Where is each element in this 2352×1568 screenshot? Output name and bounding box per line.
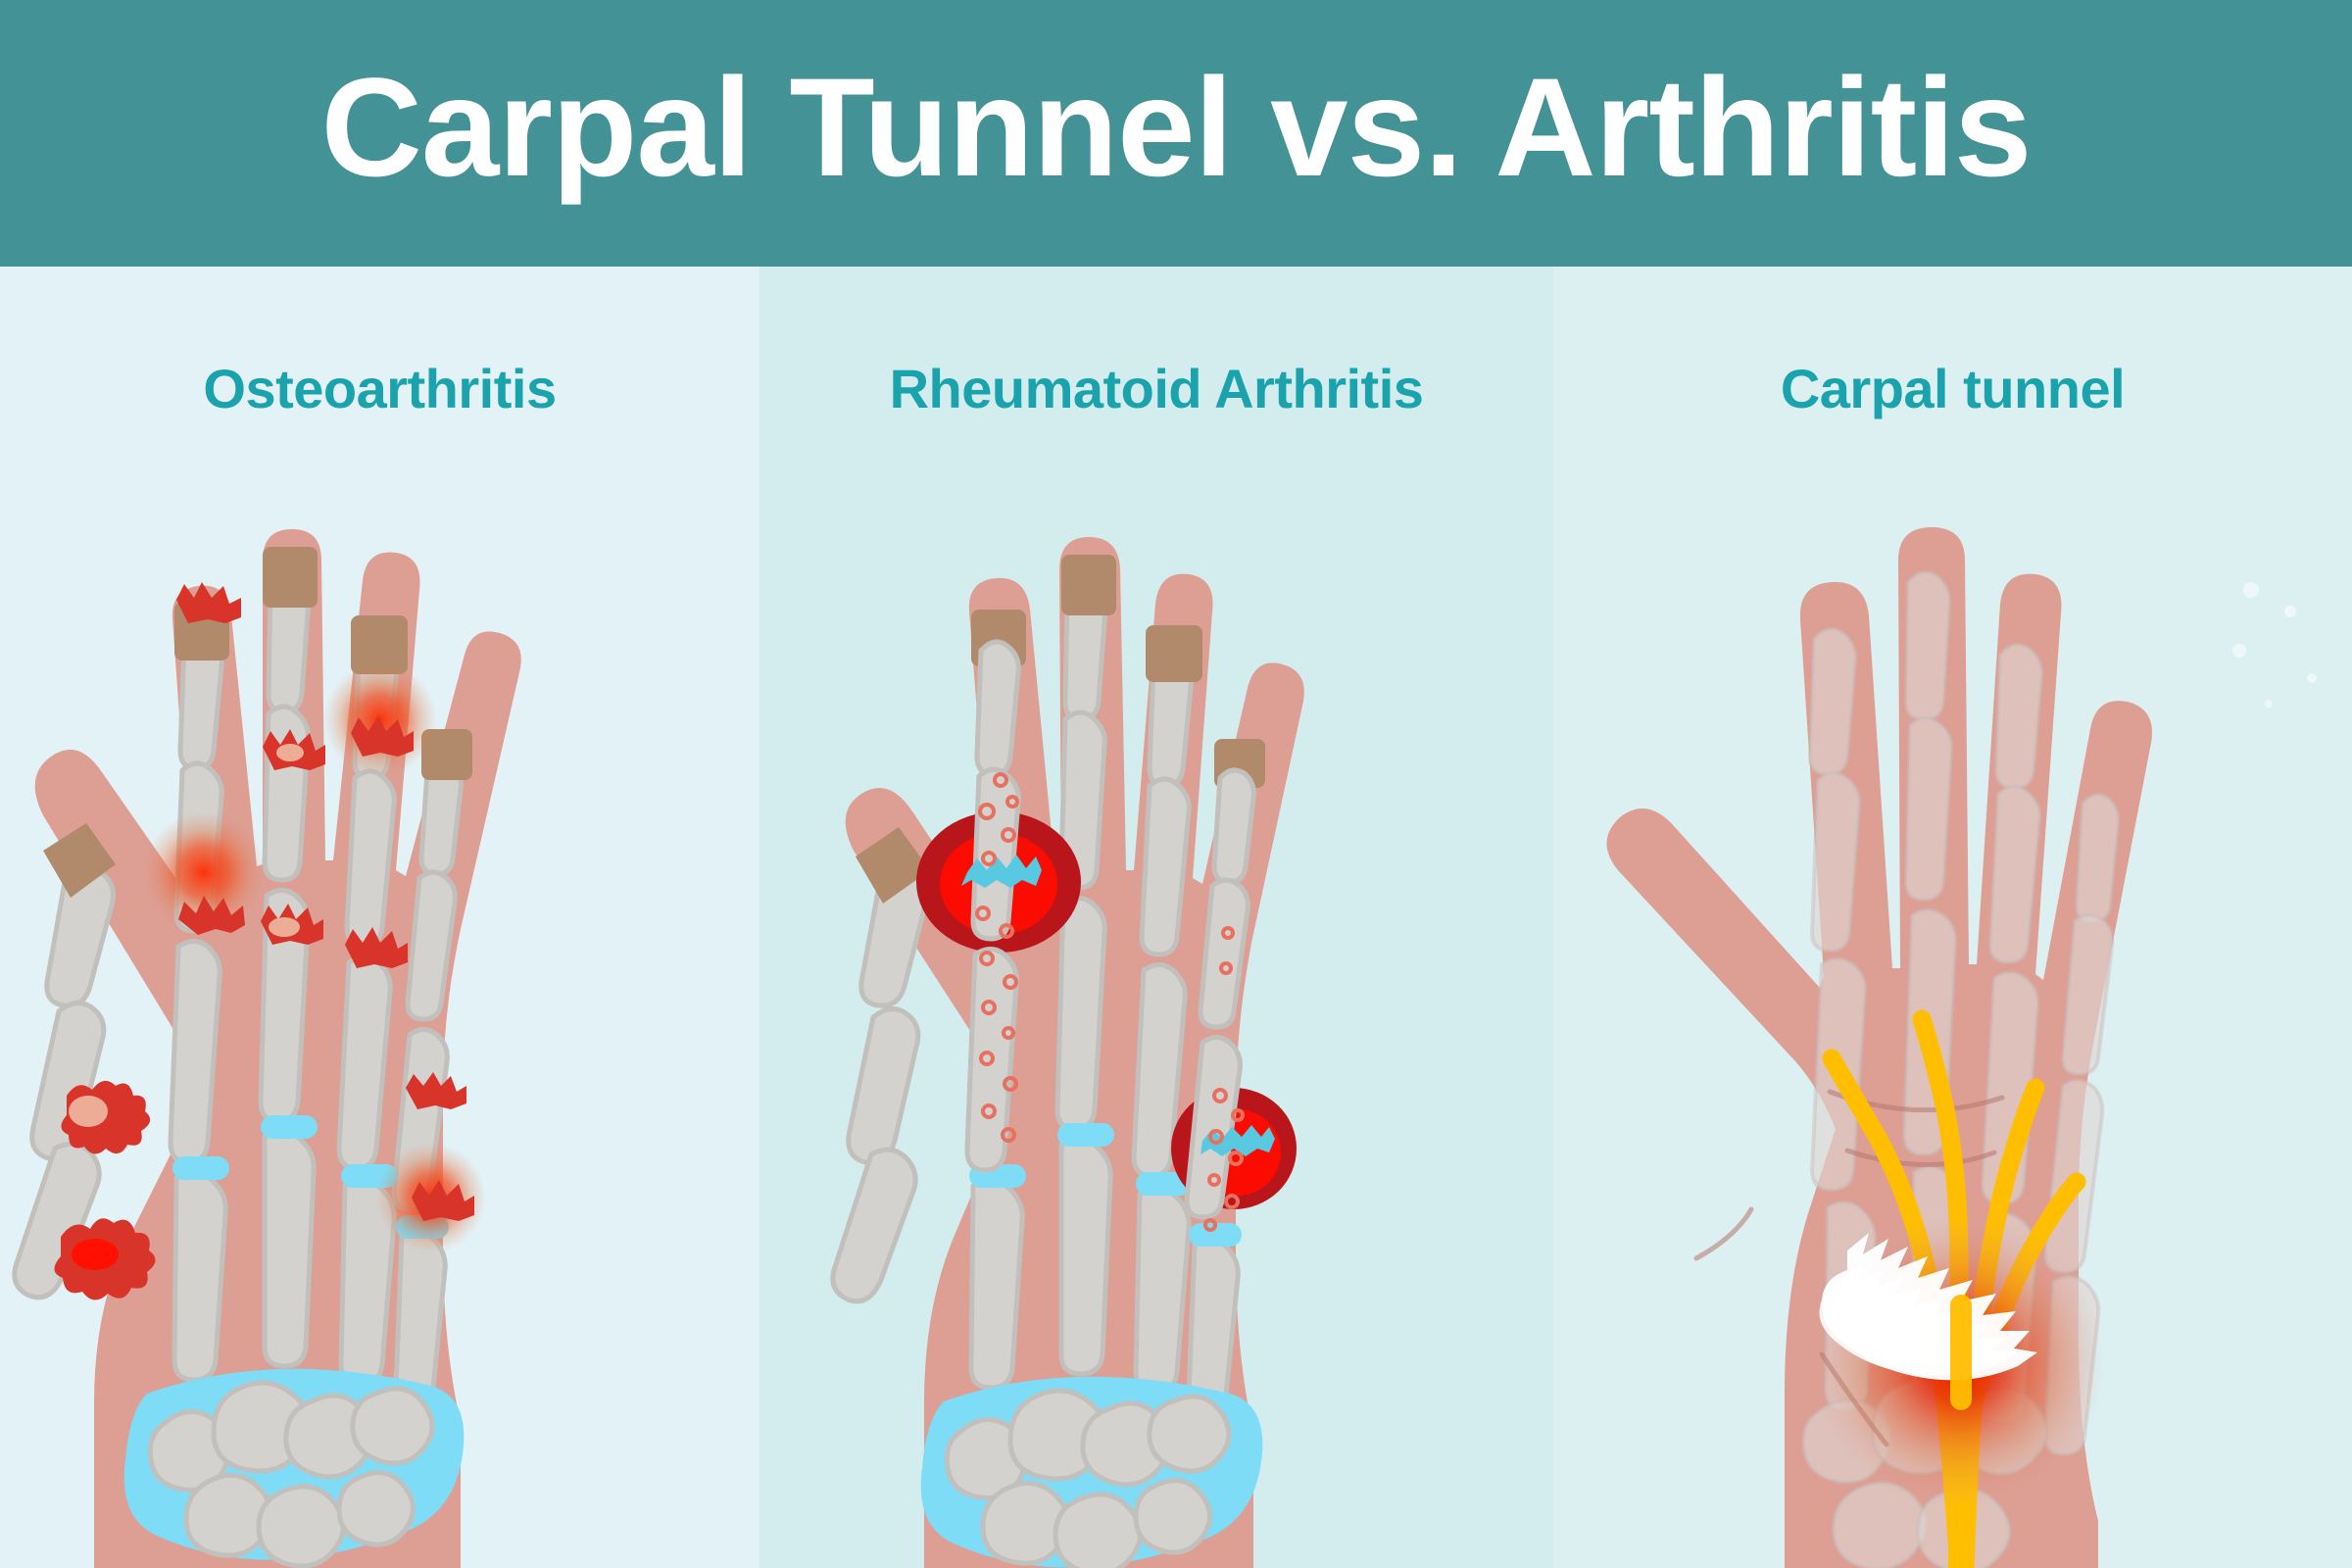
middle-proximal-phalanx <box>1057 898 1104 1129</box>
infographic-root: Carpal Tunnel vs. Arthritis Osteoarthrit… <box>0 0 2352 1568</box>
header-bar: Carpal Tunnel vs. Arthritis <box>0 0 2352 267</box>
sparkle-dot <box>2265 700 2273 708</box>
sparkle-dot <box>2243 582 2259 598</box>
carpal-bone <box>1136 1481 1210 1553</box>
sparkle-dot <box>2307 673 2317 683</box>
spur-cores <box>72 1239 119 1270</box>
figure-carpal-tunnel <box>1553 267 2352 1568</box>
middle-dip-core <box>276 744 304 761</box>
panel-rheumatoid-arthritis: Rheumatoid Arthritis <box>759 267 1553 1568</box>
index-mcp-cartilage <box>172 1156 229 1180</box>
sparkle-dot <box>2232 644 2246 658</box>
middle-metacarpal <box>1061 1140 1110 1374</box>
thumb-metacarpal <box>833 1150 915 1301</box>
carpal-bone <box>259 1487 344 1566</box>
panels-row: Osteoarthritis <box>0 267 2352 1568</box>
pinky-dip-osteophyte <box>406 1072 466 1109</box>
index-distal-phalanx <box>1810 629 1855 774</box>
panel-osteoarthritis: Osteoarthritis <box>0 267 759 1568</box>
sparkle-dots <box>2232 582 2317 708</box>
middle-mcp-cartilage <box>1057 1123 1114 1147</box>
middle-metacarpal <box>265 1132 314 1366</box>
figure-rheumatoid-arthritis <box>759 267 1553 1568</box>
thumb-ip-core <box>69 1096 108 1127</box>
middle-pip-core <box>269 917 300 937</box>
carpal-bone <box>1150 1396 1229 1471</box>
middle-mcp-cartilage <box>261 1115 318 1139</box>
page-title: Carpal Tunnel vs. Arthritis <box>321 58 2032 198</box>
crease-thumb <box>1696 1209 1751 1258</box>
carpal-bone <box>339 1473 414 1545</box>
sparkle-dot <box>2284 606 2296 617</box>
panel-carpal-tunnel: Carpal tunnel <box>1553 267 2352 1568</box>
index-distal-phalanx-overlay <box>977 642 1018 774</box>
middle-nail <box>1061 555 1116 615</box>
carpal-bone <box>1055 1494 1141 1568</box>
figure-osteoarthritis <box>0 267 759 1568</box>
index-metacarpal <box>971 1181 1022 1388</box>
middle-middle-phalanx <box>1906 718 1951 900</box>
pinky-distal-phalanx-overlay <box>1214 770 1253 882</box>
middle-nail <box>263 547 318 608</box>
thumb-proximal-phalanx <box>849 1008 918 1162</box>
carpal-bone <box>353 1389 432 1463</box>
pinky-distal-phalanx <box>2077 795 2118 921</box>
ring-distal-phalanx <box>1996 645 2041 788</box>
middle-distal-phalanx <box>1906 572 1949 719</box>
ring-nail <box>1146 625 1202 682</box>
index-metacarpal <box>174 1173 225 1380</box>
thumb-mcp-core <box>72 1239 119 1270</box>
